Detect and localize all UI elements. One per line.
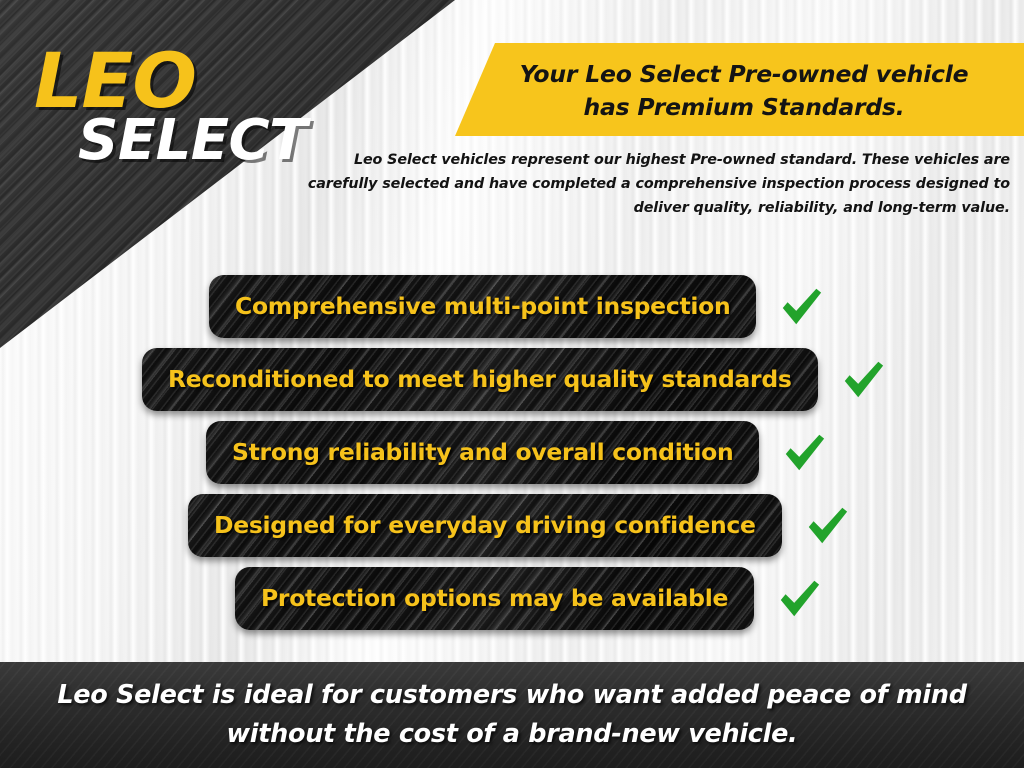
headline-line-2: has Premium Standards. [583,91,904,124]
check-icon [840,357,886,403]
feature-row: Designed for everyday driving confidence [0,489,1024,562]
footer-text: Leo Select is ideal for customers who wa… [32,676,992,754]
feature-pill[interactable]: Reconditioned to meet higher quality sta… [142,348,818,411]
headline-title: Your Leo Select Pre-owned vehicle has Pr… [468,50,1020,132]
footer-band: Leo Select is ideal for customers who wa… [0,662,1024,768]
check-icon [781,430,827,476]
feature-row: Reconditioned to meet higher quality sta… [0,343,1024,416]
headline-line-1: Your Leo Select Pre-owned vehicle [520,58,969,91]
check-icon [776,576,822,622]
check-icon [778,284,824,330]
feature-pill[interactable]: Protection options may be available [235,567,754,630]
feature-list: Comprehensive multi-point inspectionReco… [0,270,1024,635]
logo-text-select: SELECT [78,112,334,170]
logo-text-leo: LEO [34,44,334,118]
feature-row: Strong reliability and overall condition [0,416,1024,489]
feature-row: Protection options may be available [0,562,1024,635]
leo-select-promo-poster: LEO SELECT Your Leo Select Pre-owned veh… [0,0,1024,768]
feature-pill[interactable]: Strong reliability and overall condition [206,421,759,484]
feature-row: Comprehensive multi-point inspection [0,270,1024,343]
feature-pill[interactable]: Designed for everyday driving confidence [188,494,782,557]
intro-paragraph: Leo Select vehicles represent our highes… [304,148,1010,220]
brand-logo: LEO SELECT [34,44,334,174]
feature-pill[interactable]: Comprehensive multi-point inspection [209,275,756,338]
check-icon [804,503,850,549]
